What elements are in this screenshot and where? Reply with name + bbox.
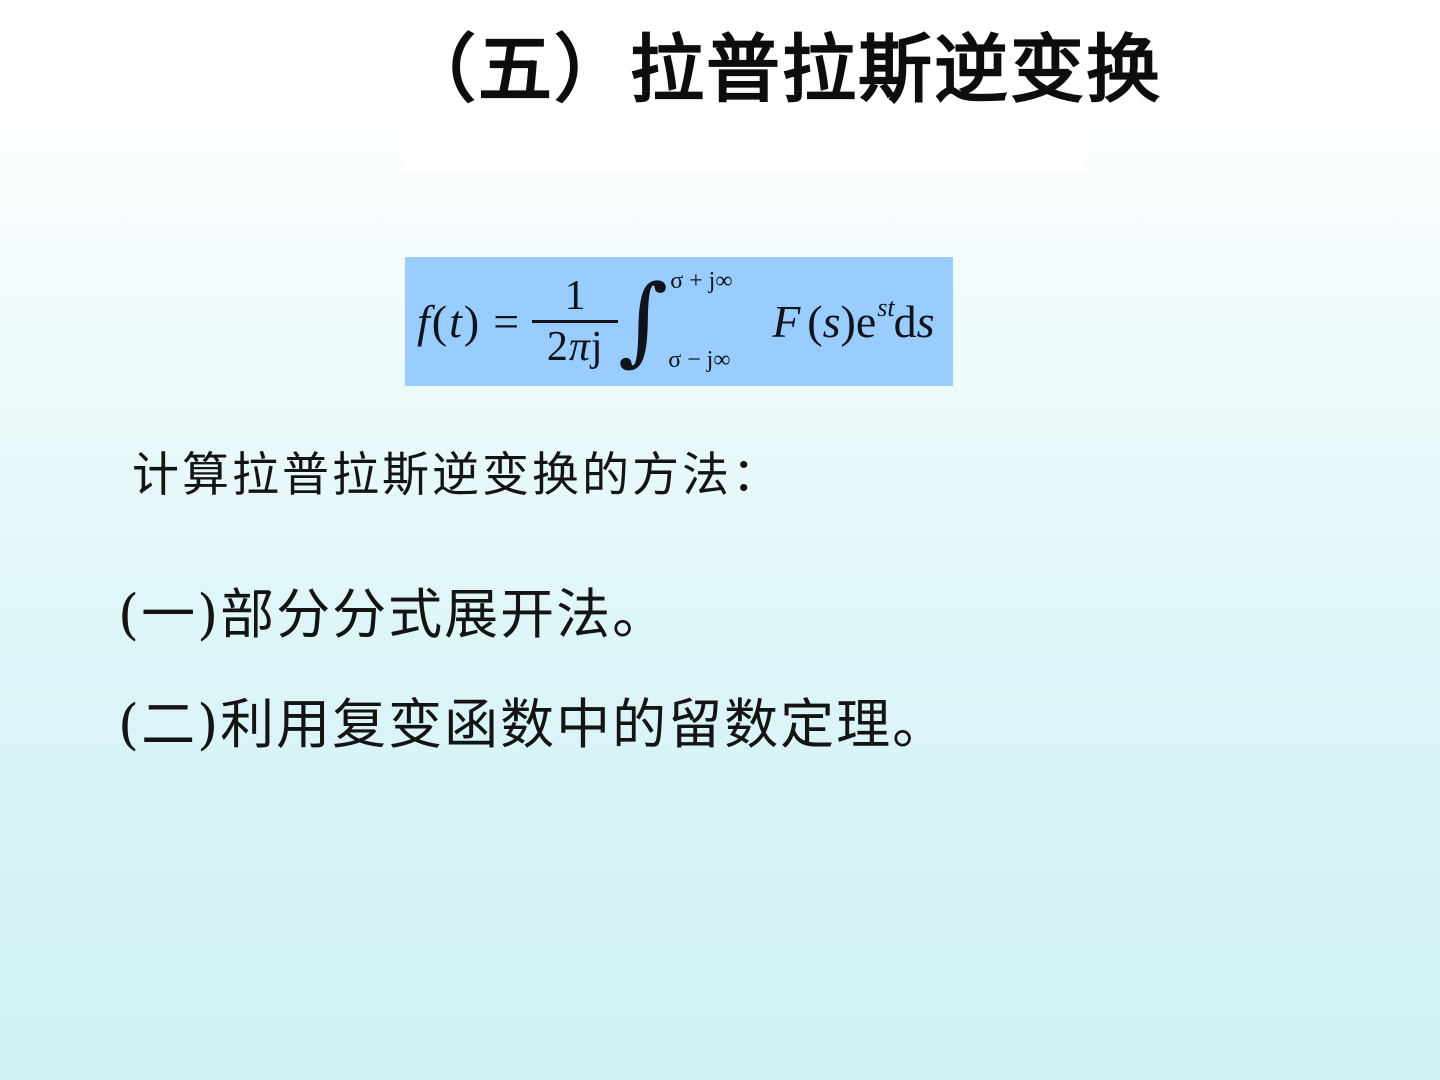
methods-lead-line: 计算拉普拉斯逆变换的方法： <box>132 436 782 505</box>
integrand-exponent-st: st <box>877 293 894 323</box>
integrand-e: e <box>856 295 876 348</box>
formula-fraction: 1 2πj <box>532 274 618 369</box>
differential-d: d <box>894 295 917 348</box>
denominator-two: 2 <box>547 324 569 370</box>
list-item-one: (一)部分分式展开法。 <box>118 570 668 649</box>
integrand-open-paren: ( <box>807 295 822 348</box>
list-item-two: (二)利用复变函数中的留数定理。 <box>118 680 948 759</box>
formula-integrand: F ( s ) e st d s <box>772 295 934 348</box>
integrand-F: F <box>772 295 800 348</box>
integrand-close-paren: ) <box>841 295 856 348</box>
denominator-j: j <box>591 324 604 370</box>
integrand-s: s <box>823 295 841 348</box>
formula-close-paren-t: ) <box>463 295 481 348</box>
fraction-numerator: 1 <box>555 274 596 320</box>
inverse-laplace-formula: f ( t ) = 1 2πj ∫ σ + j∞ σ − j∞ <box>417 266 935 378</box>
formula-variable-t: t <box>449 295 463 348</box>
formula-function-f: f <box>417 295 431 348</box>
fraction-denominator: 2πj <box>541 323 610 369</box>
integral-limits: σ + j∞ σ − j∞ <box>668 266 776 378</box>
formula-left-hand-side: f ( t ) = <box>417 295 530 348</box>
integral-lower-limit: σ − j∞ <box>668 347 730 374</box>
integral-upper-limit: σ + j∞ <box>670 268 732 295</box>
integral-sign: ∫ <box>618 272 668 368</box>
slide-canvas: （五）拉普拉斯逆变换 f ( t ) = 1 2πj ∫ σ + j∞ <box>0 0 1440 1080</box>
page-title: （五）拉普拉斯逆变换 <box>402 24 1086 116</box>
formula-equals-sign: = <box>481 295 530 348</box>
denominator-pi: π <box>569 324 591 370</box>
formula-highlight-box: f ( t ) = 1 2πj ∫ σ + j∞ σ − j∞ <box>405 257 953 386</box>
formula-open-paren-t: ( <box>431 295 449 348</box>
formula-integral: ∫ σ + j∞ σ − j∞ <box>618 266 776 378</box>
differential-s: s <box>917 295 935 348</box>
